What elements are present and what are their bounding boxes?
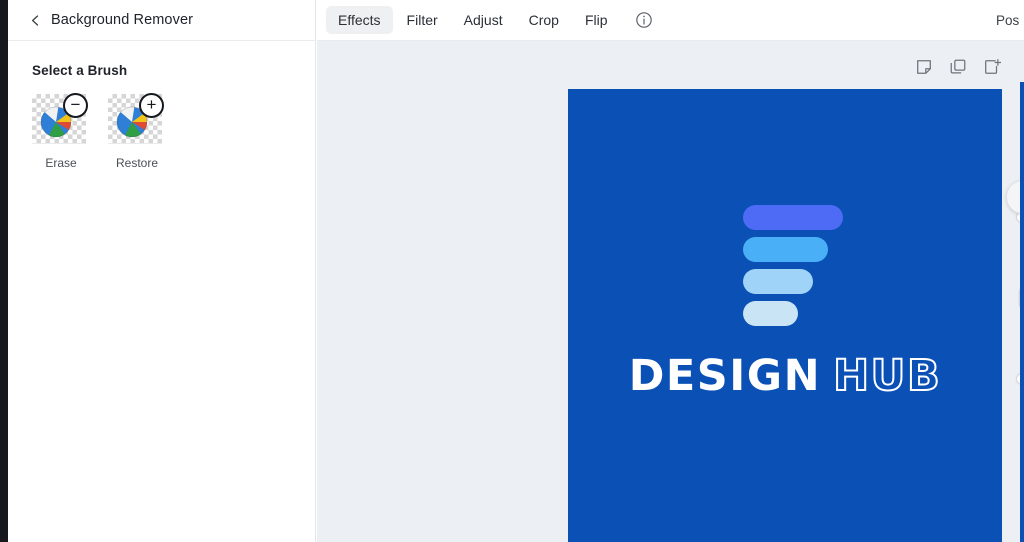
panel-title: Background Remover — [51, 12, 193, 28]
minus-icon: − — [63, 93, 88, 118]
background-remover-panel: Background Remover Select a Brush — [8, 0, 316, 542]
badge-glyph: − — [71, 96, 81, 113]
toolbar-right-group: Pos — [996, 13, 1024, 28]
brush-label-restore: Restore — [108, 156, 166, 170]
poster-title[interactable]: DESIGNHUB — [568, 351, 1002, 401]
poster-title-design: DESIGN — [629, 351, 821, 401]
badge-glyph: + — [147, 96, 157, 113]
logo-bar-1 — [743, 205, 843, 230]
poster-title-hub: HUB — [833, 351, 941, 401]
tab-effects[interactable]: Effects — [326, 6, 393, 34]
design-canvas[interactable]: DESIGNHUB — [317, 41, 1024, 542]
logo-bar-2 — [743, 237, 828, 262]
canvas-tool-group — [914, 57, 1002, 77]
logo-bar-4 — [743, 301, 798, 326]
select-a-brush-label: Select a Brush — [32, 63, 291, 78]
panel-body: Select a Brush — [8, 41, 315, 170]
plus-icon: + — [139, 93, 164, 118]
tab-filter[interactable]: Filter — [395, 6, 450, 34]
editor-window: Background Remover Select a Brush — [0, 0, 1024, 542]
tab-crop[interactable]: Crop — [517, 6, 571, 34]
export-icon[interactable] — [982, 57, 1002, 77]
tab-flip[interactable]: Flip — [573, 6, 620, 34]
left-app-rail — [0, 0, 8, 542]
brush-thumbnail[interactable]: − — [32, 94, 86, 144]
position-label[interactable]: Pos — [996, 13, 1024, 28]
logo-bar-3 — [743, 269, 813, 294]
brush-option-restore[interactable]: + Restore — [108, 94, 166, 170]
editor-toolbar: Effects Filter Adjust Crop Flip Pos — [317, 0, 1024, 41]
duplicate-icon[interactable] — [948, 57, 968, 77]
tab-adjust[interactable]: Adjust — [452, 6, 515, 34]
poster-artboard[interactable]: DESIGNHUB — [568, 89, 1002, 542]
info-circle-icon[interactable] — [635, 11, 654, 30]
brush-list: − Erase — [32, 94, 291, 170]
chevron-left-icon[interactable] — [28, 13, 42, 27]
right-accent-strip — [1020, 82, 1024, 542]
logo-graphic[interactable] — [743, 205, 843, 315]
brush-label-erase: Erase — [32, 156, 90, 170]
brush-thumbnail[interactable]: + — [108, 94, 162, 144]
toolbar-tabs: Effects Filter Adjust Crop Flip — [317, 6, 654, 34]
brush-option-erase[interactable]: − Erase — [32, 94, 90, 170]
panel-header: Background Remover — [8, 0, 315, 41]
note-icon[interactable] — [914, 57, 934, 77]
